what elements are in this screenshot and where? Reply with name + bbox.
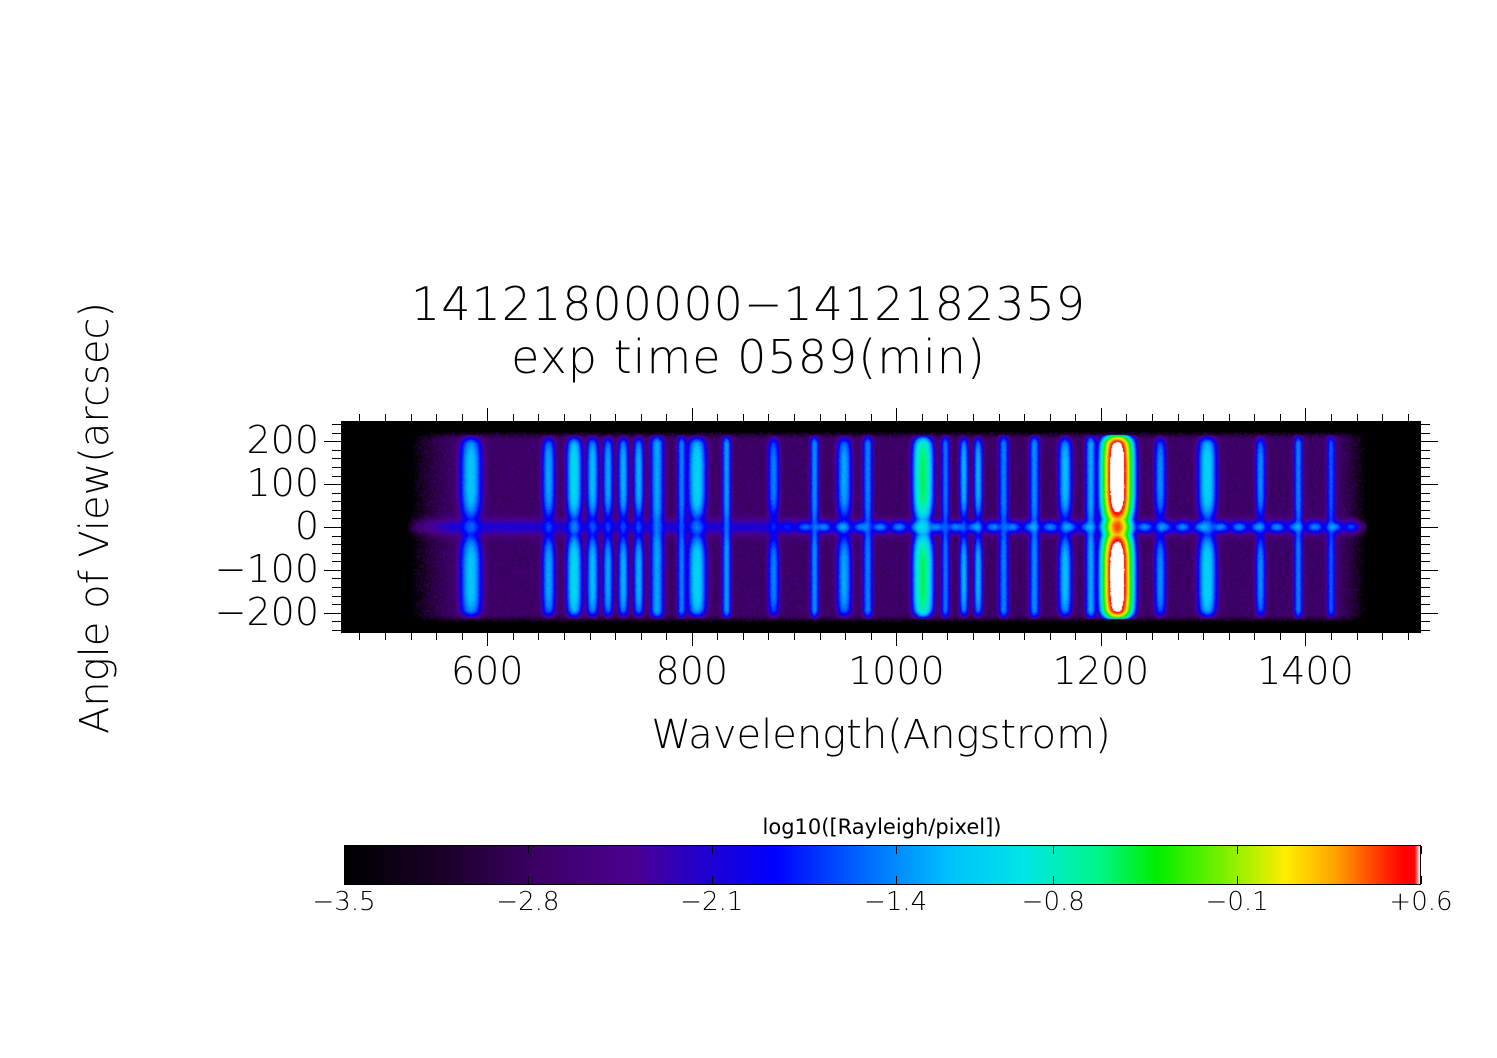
y-tick-label: 100 <box>189 464 319 502</box>
x-tick-label: 1400 <box>1205 652 1405 690</box>
colorbar-tick <box>1421 876 1422 884</box>
colorbar-gradient <box>345 846 1420 884</box>
colorbar-tick <box>528 846 529 854</box>
colorbar-tick <box>896 876 897 884</box>
colorbar-tick <box>712 876 713 884</box>
colorbar-tick-label: −2.1 <box>632 889 792 915</box>
colorbar-tick-label: −0.1 <box>1157 889 1317 915</box>
y-tick-label: 200 <box>189 421 319 459</box>
colorbar-tick <box>344 846 345 854</box>
colorbar-tick <box>1237 876 1238 884</box>
colorbar-tick <box>1053 876 1054 884</box>
colorbar-tick <box>528 876 529 884</box>
colorbar-tick <box>1053 846 1054 854</box>
colorbar-tick-label: −3.5 <box>264 889 424 915</box>
y-tick-label: 0 <box>189 507 319 545</box>
colorbar-tick-label: −0.8 <box>973 889 1133 915</box>
colorbar-tick <box>1237 846 1238 854</box>
colorbar-tick-label: −2.8 <box>448 889 608 915</box>
x-tick-label: 600 <box>387 652 587 690</box>
colorbar-tick <box>1421 846 1422 854</box>
colorbar-tick-label: −1.4 <box>816 889 976 915</box>
x-tick-label: 1000 <box>796 652 996 690</box>
colorbar-tick <box>896 846 897 854</box>
y-tick-label: −200 <box>189 593 319 631</box>
colorbar-tick-label: +0.6 <box>1341 889 1497 915</box>
x-tick-label: 800 <box>592 652 792 690</box>
colorbar <box>344 845 1421 885</box>
x-tick-label: 1200 <box>1001 652 1201 690</box>
y-tick-label: −100 <box>189 550 319 588</box>
colorbar-tick <box>344 876 345 884</box>
colorbar-tick <box>712 846 713 854</box>
figure-root: 14121800000−1412182359 exp time 0589(min… <box>0 0 1497 1058</box>
colorbar-title: log10([Rayleigh/pixel]) <box>344 815 1420 839</box>
